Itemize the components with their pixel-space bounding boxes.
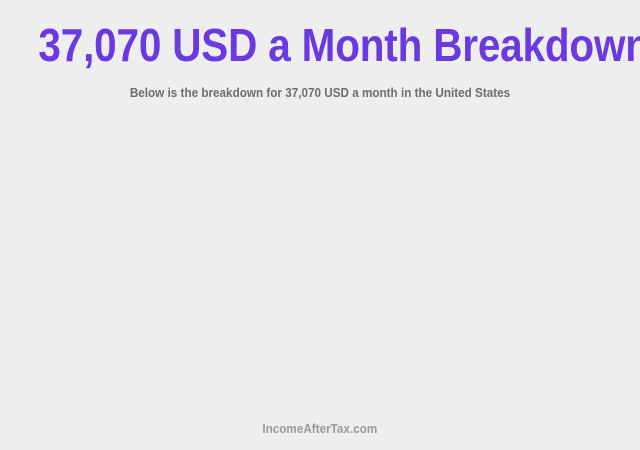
page-root: 37,070 USD a Month Breakdown Below is th…: [0, 0, 640, 450]
page-title: 37,070 USD a Month Breakdown: [38, 19, 601, 71]
footer-brand-label: IncomeAfterTax.com: [263, 421, 378, 437]
page-subtitle: Below is the breakdown for 37,070 USD a …: [32, 85, 608, 101]
breakdown-chart-container: [0, 115, 640, 407]
site-footer: IncomeAfterTax.com: [0, 420, 640, 438]
chart-plot-area: [0, 115, 640, 407]
